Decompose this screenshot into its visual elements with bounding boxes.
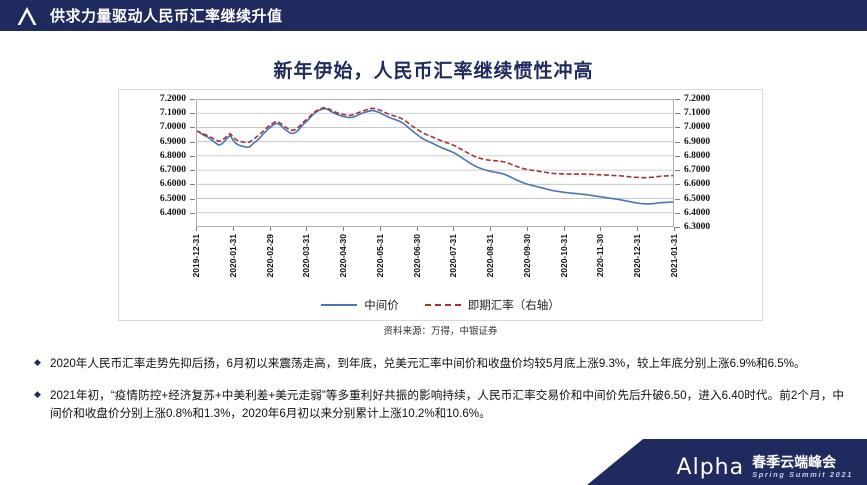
- chart-series-1: [196, 108, 674, 178]
- x-tick-3: [306, 227, 307, 231]
- page-footer: Alpha 春季云端峰会 Spring Summit 2021: [0, 439, 867, 485]
- chart-source-note: 资料来源：万得，中银证券: [118, 323, 763, 337]
- y-tick-left-3: 6.9000: [128, 136, 186, 148]
- y-tick-left-0: 7.2000: [128, 93, 186, 105]
- y-tick-right-0: 7.2000: [684, 93, 742, 105]
- x-tick-9: [527, 227, 528, 231]
- x-tick-0: [196, 227, 197, 231]
- x-tick-label-8: 2020-08-31: [485, 234, 495, 277]
- x-tick-13: [674, 227, 675, 231]
- bullet-text-1: 2021年初，“疫情防控+经济复苏+中美利差+美元走弱”等多重利好共振的影响持续…: [50, 387, 844, 423]
- bullet-list: ◆ 2020年人民币汇率走势先抑后扬，6月初以来震荡走高，到年底，兑美元汇率中间…: [34, 355, 844, 437]
- legend-swatch-dashed-red: [425, 304, 461, 306]
- diamond-bullet-icon: ◆: [34, 387, 50, 399]
- x-tick-label-5: 2020-05-31: [375, 234, 385, 277]
- y-tick-left-8: 6.4000: [128, 207, 186, 219]
- chart-plot-area: [196, 99, 674, 227]
- legend-item-zhongjianjia: 中间价: [321, 297, 399, 313]
- x-tick-7: [453, 227, 454, 231]
- page-header: 供求力量驱动人民币汇率继续升值: [0, 0, 867, 31]
- y-tick-left-2: 7.0000: [128, 121, 186, 133]
- x-tick-4: [343, 227, 344, 231]
- y-tick-right-2: 7.0000: [684, 121, 742, 133]
- triangle-a-logo-icon: [10, 0, 44, 31]
- y-tick-right-8: 6.4000: [684, 207, 742, 219]
- y-tick-left-6: 6.6000: [128, 178, 186, 190]
- legend-label-0: 中间价: [364, 297, 399, 313]
- x-tick-11: [600, 227, 601, 231]
- x-tick-label-3: 2020-03-31: [301, 234, 311, 277]
- x-tick-12: [637, 227, 638, 231]
- y-tick-right-5: 6.7000: [684, 164, 742, 176]
- chart-title: 新年伊始，人民币汇率继续惯性冲高: [0, 56, 867, 83]
- x-tick-label-0: 2019-12-31: [191, 234, 201, 277]
- x-tick-label-13: 2021-01-31: [669, 234, 679, 277]
- diamond-bullet-icon: ◆: [34, 355, 50, 367]
- y-tick-left-7: 6.5000: [128, 193, 186, 205]
- legend-label-1: 即期汇率（右轴）: [468, 297, 560, 313]
- chart-x-axis: 2019-12-312020-01-312020-02-292020-03-31…: [196, 231, 674, 287]
- footer-banner-shape: [587, 439, 867, 485]
- y-tick-right-9: 6.3000: [684, 221, 742, 233]
- list-item: ◆ 2021年初，“疫情防控+经济复苏+中美利差+美元走弱”等多重利好共振的影响…: [34, 387, 844, 423]
- y-tick-left-5: 6.7000: [128, 164, 186, 176]
- x-tick-2: [270, 227, 271, 231]
- legend-swatch-solid-blue: [321, 304, 357, 306]
- footer-brand: Alpha 春季云端峰会 Spring Summit 2021: [677, 455, 853, 479]
- x-tick-label-11: 2020-11-30: [595, 234, 605, 277]
- footer-brand-cn: 春季云端峰会: [752, 455, 853, 470]
- x-tick-1: [233, 227, 234, 231]
- y-tick-right-3: 6.9000: [684, 136, 742, 148]
- y-tick-right-1: 7.1000: [684, 107, 742, 119]
- x-tick-label-6: 2020-06-30: [412, 234, 422, 277]
- chart-legend: 中间价 即期汇率（右轴）: [118, 296, 763, 314]
- x-tick-label-7: 2020-07-31: [448, 234, 458, 277]
- footer-brand-alpha: Alpha: [677, 457, 745, 479]
- x-tick-6: [417, 227, 418, 231]
- footer-brand-en: Spring Summit 2021: [752, 470, 853, 479]
- page-title: 供求力量驱动人民币汇率继续升值: [50, 5, 283, 26]
- x-tick-label-2: 2020-02-29: [265, 234, 275, 277]
- x-tick-label-10: 2020-10-31: [559, 234, 569, 277]
- y-tick-left-4: 6.8000: [128, 150, 186, 162]
- y-tick-right-6: 6.6000: [684, 178, 742, 190]
- x-tick-label-12: 2020-12-31: [632, 234, 642, 277]
- x-tick-label-9: 2020-09-30: [522, 234, 532, 277]
- bullet-text-0: 2020年人民币汇率走势先抑后扬，6月初以来震荡走高，到年底，兑美元汇率中间价和…: [50, 355, 844, 373]
- x-tick-5: [380, 227, 381, 231]
- x-tick-label-4: 2020-04-30: [338, 234, 348, 277]
- list-item: ◆ 2020年人民币汇率走势先抑后扬，6月初以来震荡走高，到年底，兑美元汇率中间…: [34, 355, 844, 373]
- x-tick-10: [564, 227, 565, 231]
- x-tick-8: [490, 227, 491, 231]
- y-tick-right-7: 6.5000: [684, 193, 742, 205]
- y-tick-left-1: 7.1000: [128, 107, 186, 119]
- y-tick-right-4: 6.8000: [684, 150, 742, 162]
- x-tick-label-1: 2020-01-31: [228, 234, 238, 277]
- legend-item-jiqihuilv: 即期汇率（右轴）: [425, 297, 560, 313]
